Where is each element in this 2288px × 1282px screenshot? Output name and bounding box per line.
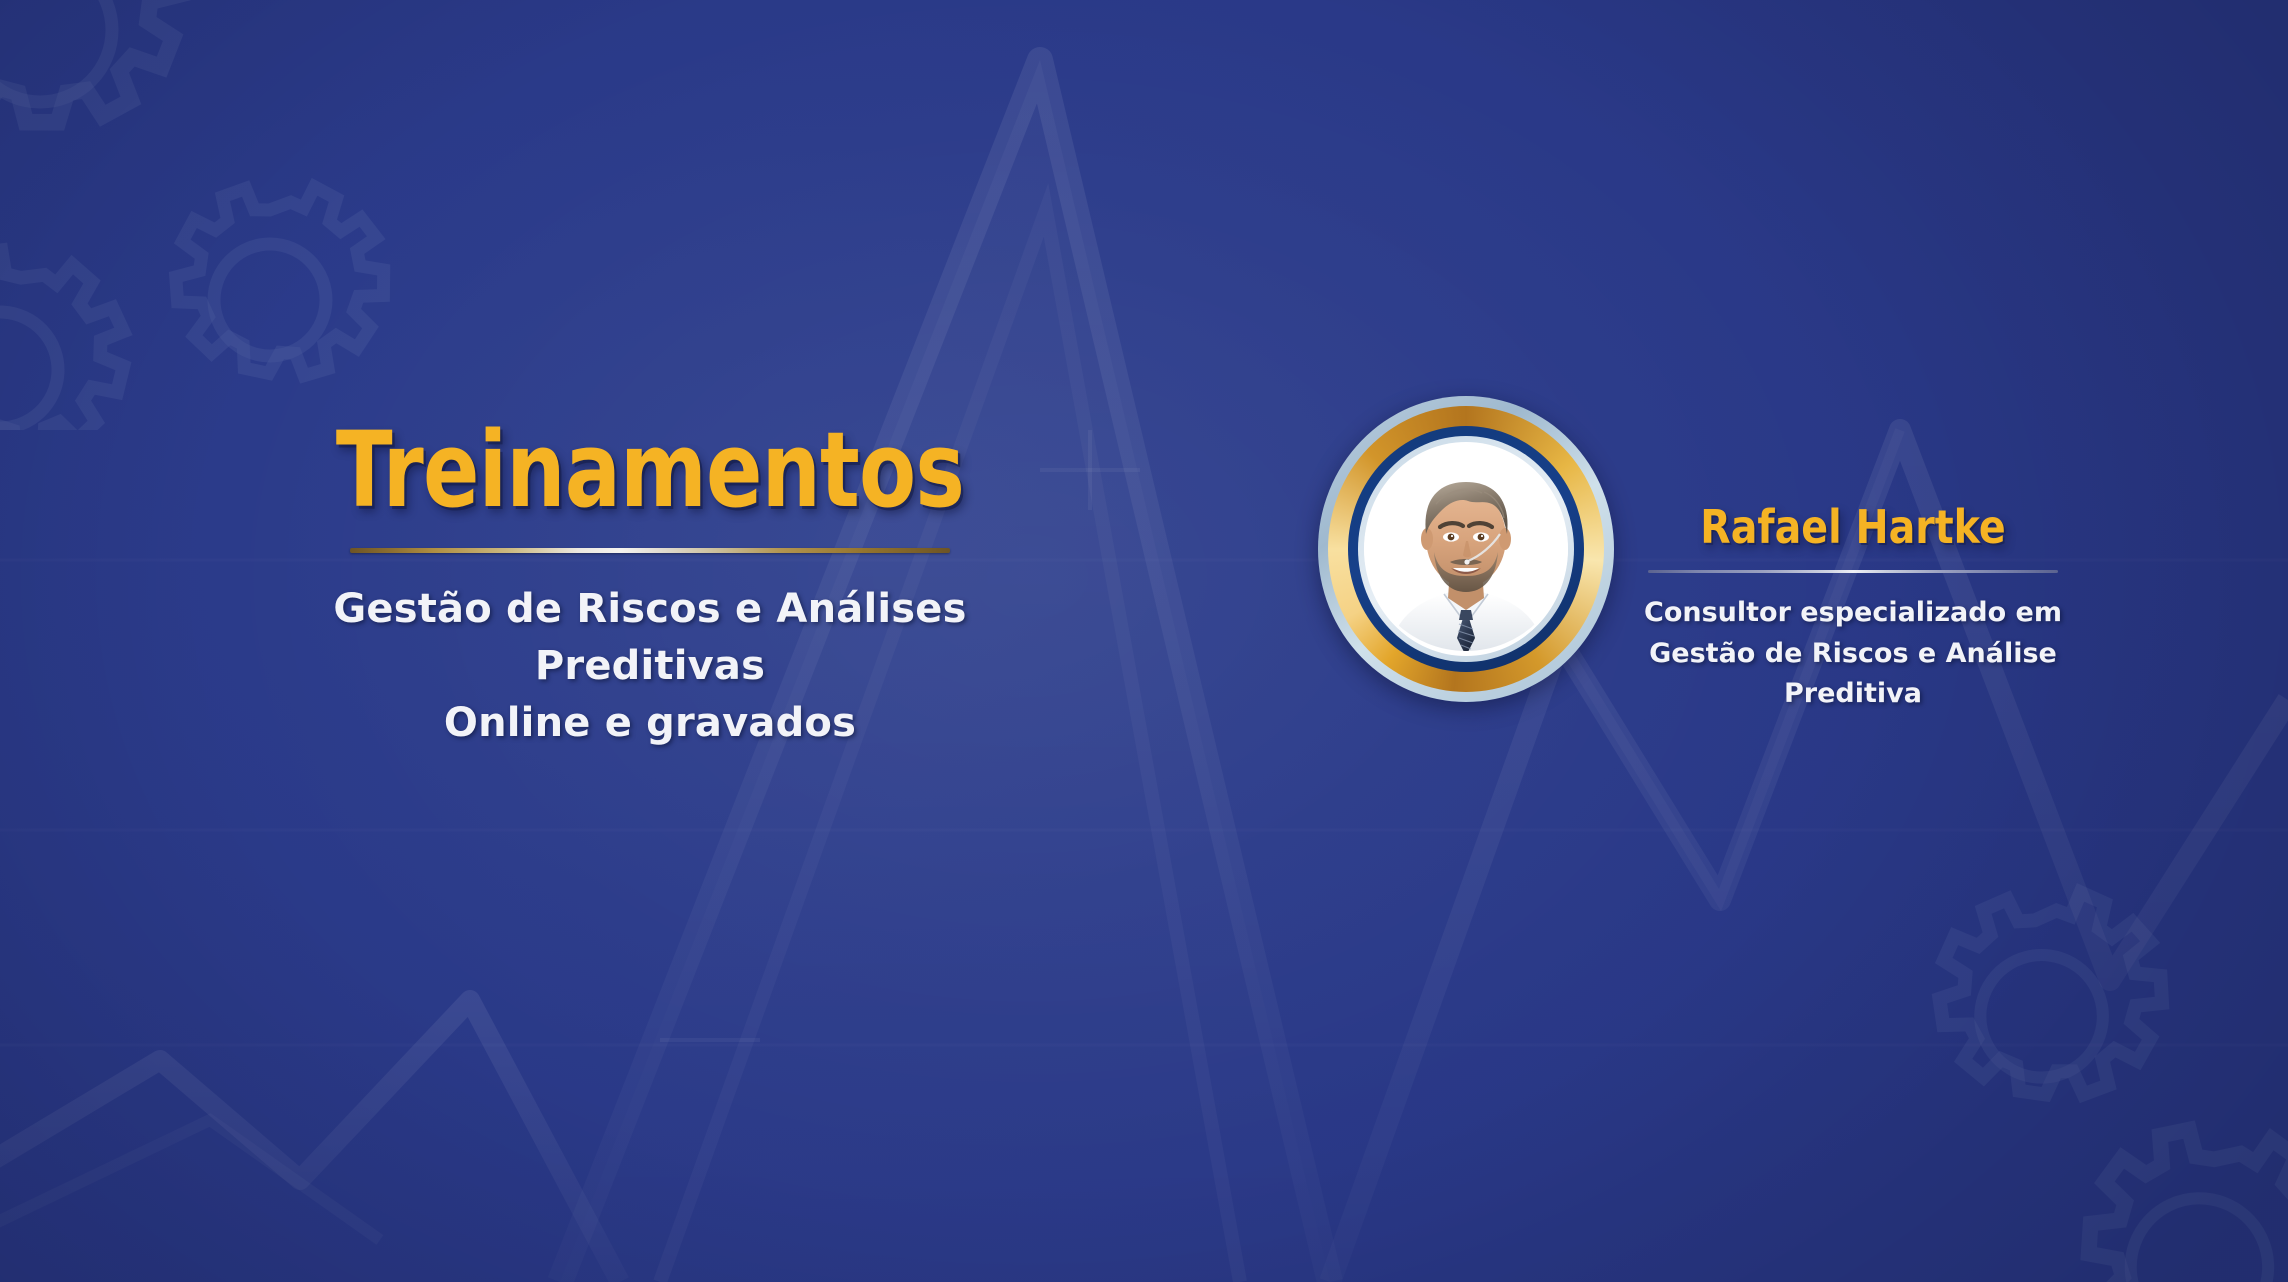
right-content-block: Rafael Hartke Consultor especializado em… [1618, 500, 2088, 715]
slide-root: Treinamentos Gestão de Riscos e Análises… [0, 0, 2288, 1282]
subtitle-group: Gestão de Riscos e Análises Preditivas O… [250, 581, 1050, 751]
title-divider-gold [350, 548, 950, 553]
subtitle-line-2: Online e gravados [250, 695, 1050, 752]
person-role-line-1: Consultor especializado em [1618, 593, 2088, 634]
avatar [1318, 396, 1614, 702]
left-content-block: Treinamentos Gestão de Riscos e Análises… [250, 418, 1050, 751]
name-divider-silver [1648, 570, 2058, 573]
person-role-line-2: Gestão de Riscos e Análise Preditiva [1618, 634, 2088, 715]
subtitle-line-1: Gestão de Riscos e Análises Preditivas [250, 581, 1050, 695]
page-title: Treinamentos [330, 418, 970, 522]
avatar-photo [1364, 442, 1568, 656]
person-role-group: Consultor especializado em Gestão de Ris… [1618, 593, 2088, 715]
person-name: Rafael Hartke [1651, 500, 2055, 554]
